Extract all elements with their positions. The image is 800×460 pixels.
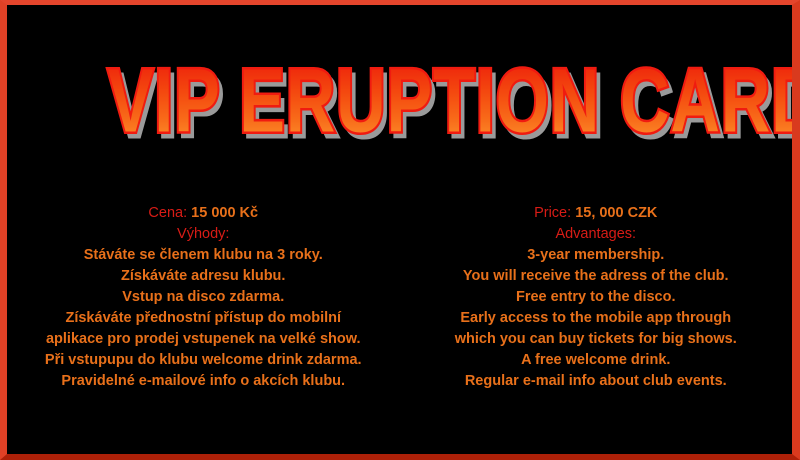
price-label-cs: Cena: (148, 205, 187, 221)
price-row-en: Price: 15, 000 CZK (400, 203, 793, 224)
vip-card: VIP ERUPTION CARD VIP ERUPTION CARD VIP … (0, 0, 800, 460)
advantage-item: A free welcome drink. (400, 350, 793, 371)
advantages-label-en: Advantages: (400, 224, 793, 245)
advantage-item: Získáváte adresu klubu. (7, 266, 400, 287)
advantage-item: Early access to the mobile app through (400, 308, 793, 329)
advantage-item: Regular e-mail info about club events. (400, 371, 793, 392)
advantages-label-cs: Výhody: (7, 224, 400, 245)
advantage-item: Získáváte přednostní přístup do mobilní (7, 308, 400, 329)
advantage-item: Při vstupupu do klubu welcome drink zdar… (7, 350, 400, 371)
advantage-item: Free entry to the disco. (400, 287, 793, 308)
advantage-item: 3-year membership. (400, 245, 793, 266)
column-english: Price: 15, 000 CZK Advantages: 3-year me… (400, 203, 793, 392)
advantage-item: Pravidelné e-mailové info o akcích klubu… (7, 371, 400, 392)
card-title-container: VIP ERUPTION CARD VIP ERUPTION CARD VIP … (7, 57, 792, 149)
column-czech: Cena: 15 000 Kč Výhody: Stáváte se člene… (7, 203, 400, 392)
advantage-item: Stáváte se členem klubu na 3 roky. (7, 245, 400, 266)
price-value-cs: 15 000 Kč (191, 205, 258, 221)
advantage-item: You will receive the adress of the club. (400, 266, 793, 287)
price-row-cs: Cena: 15 000 Kč (7, 203, 400, 224)
advantage-item: Vstup na disco zdarma. (7, 287, 400, 308)
price-label-en: Price: (534, 205, 571, 221)
card-columns: Cena: 15 000 Kč Výhody: Stáváte se člene… (7, 203, 792, 392)
advantage-item: aplikace pro prodej vstupenek na velké s… (7, 329, 400, 350)
card-title-fill-layer: VIP ERUPTION CARD (108, 50, 800, 151)
price-value-en: 15, 000 CZK (575, 205, 657, 221)
advantage-item: which you can buy tickets for big shows. (400, 329, 793, 350)
card-title: VIP ERUPTION CARD VIP ERUPTION CARD VIP … (108, 56, 800, 146)
